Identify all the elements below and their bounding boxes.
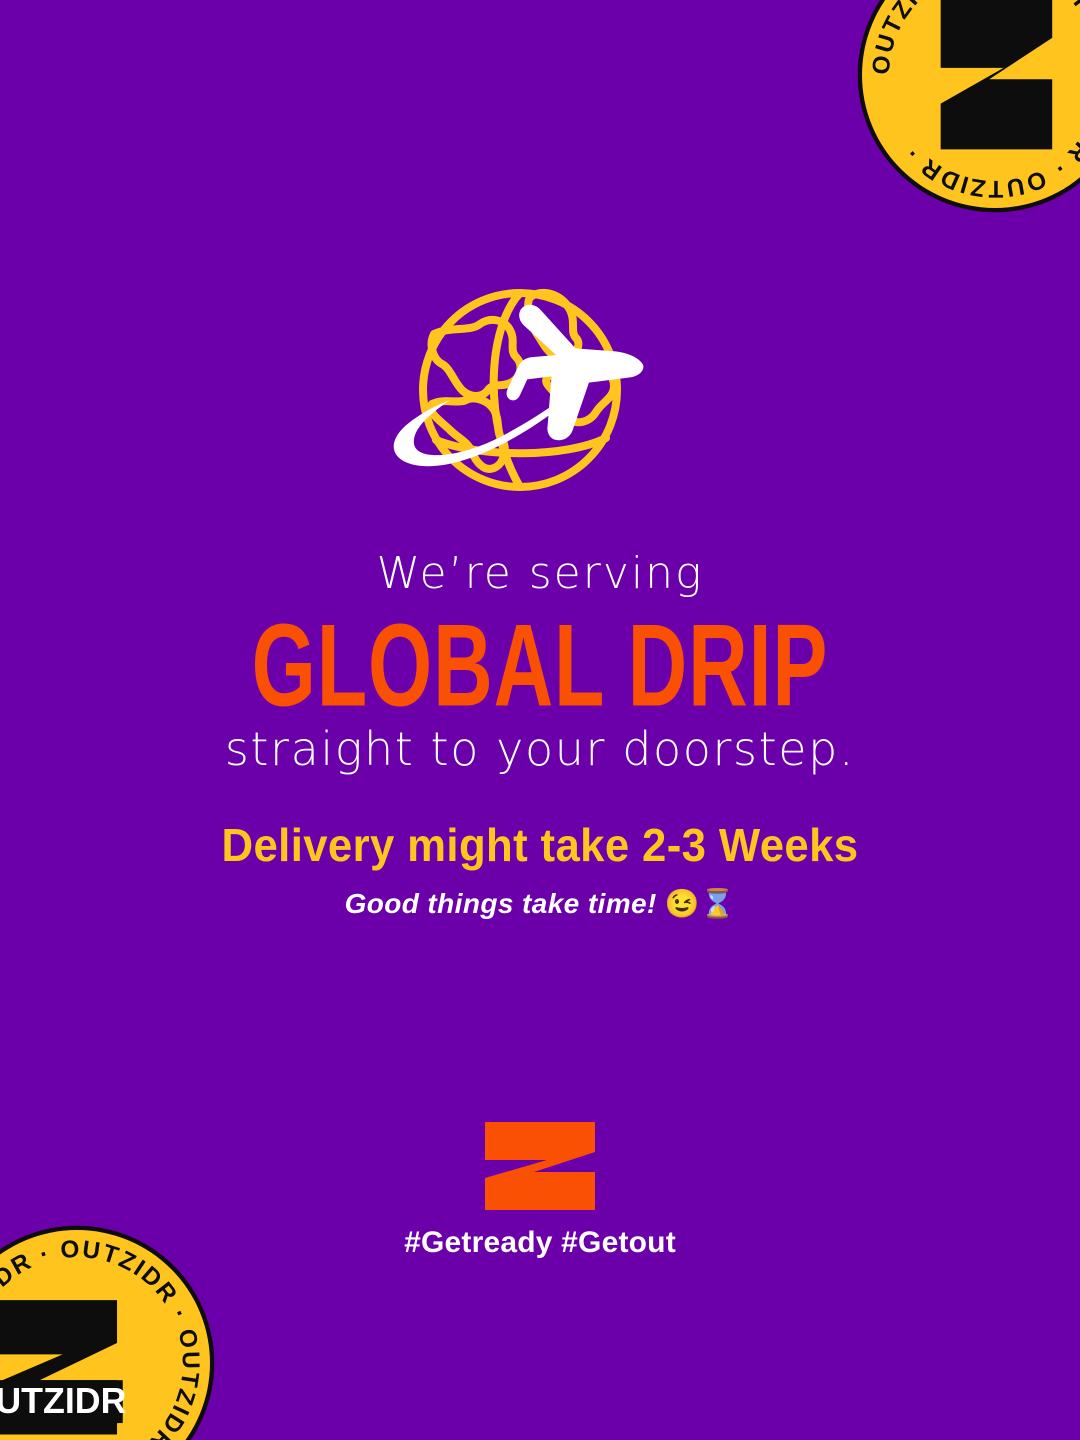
delivery-note-block: Delivery might take 2-3 Weeks Good thing… [0, 822, 1080, 918]
outzidr-seal-top-right: OUTZIDR · OUTZIDR · OUTZIDR · OUTZIDR · [852, 0, 1080, 218]
seal-ring-text: OUTZIDR · OUTZIDR · OUTZIDR · OUTZIDR · [0, 1236, 204, 1440]
footer-brand-block: #Getready #Getout [0, 1120, 1080, 1260]
delivery-headline: Delivery might take 2-3 Weeks [27, 822, 1053, 868]
delivery-subtext-label: Good things take time! [345, 888, 657, 919]
seal-fill [0, 1230, 210, 1440]
seal-center-z-glyph: OUTZIDR [0, 1300, 127, 1434]
delivery-subtext: Good things take time! 😉⌛ [0, 890, 1080, 918]
seal-center-z-glyph [941, 0, 1053, 149]
hashtags-text: #Getready #Getout [0, 1226, 1080, 1260]
globe-airplane-icon [370, 272, 710, 502]
wink-hourglass-emoji: 😉⌛ [665, 888, 736, 919]
seal-top-right-svg: OUTZIDR · OUTZIDR · OUTZIDR · OUTZIDR · [852, 0, 1080, 218]
z-logo-mark [479, 1120, 601, 1212]
seal-wordmark: OUTZIDR [0, 1381, 127, 1421]
headline-line-3: straight to your doorstep. [0, 726, 1080, 772]
seal-fill [862, 0, 1080, 208]
seal-outline [858, 0, 1080, 212]
headline-block: We’re serving GLOBAL DRIP straight to yo… [0, 552, 1080, 772]
seal-ring-text: OUTZIDR · OUTZIDR · OUTZIDR · OUTZIDR · [868, 0, 1080, 202]
headline-line-2: GLOBAL DRIP [76, 608, 1005, 725]
poster-canvas: OUTZIDR · OUTZIDR · OUTZIDR · OUTZIDR · [0, 0, 1080, 1440]
hero-icon-wrap [0, 272, 1080, 502]
headline-line-1: We’re serving [0, 552, 1080, 596]
